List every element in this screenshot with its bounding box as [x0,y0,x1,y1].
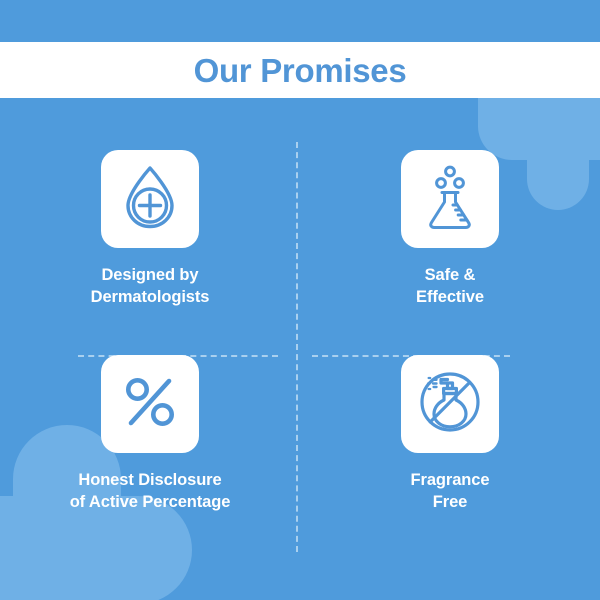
promise-item-fragrance-free: Fragrance Free [300,355,600,560]
page-title: Our Promises [194,54,407,87]
droplet-medical-cross-icon [119,164,181,235]
promise-label: Fragrance Free [411,470,490,514]
icon-card [101,355,199,453]
promise-item-honest-disclosure: Honest Disclosure of Active Percentage [0,355,300,560]
promises-poster: Our Promises Designed by Dermatologists [0,0,600,600]
promise-item-designed-by-dermatologists: Designed by Dermatologists [0,150,300,355]
icon-card [401,150,499,248]
lab-flask-icon [419,164,481,235]
promises-grid: Designed by Dermatologists [0,150,600,560]
icon-card [401,355,499,453]
percent-icon [120,372,180,437]
promise-label: Honest Disclosure of Active Percentage [70,470,231,514]
promise-label: Designed by Dermatologists [91,265,210,309]
no-fragrance-bottle-icon [417,369,483,440]
header-banner: Our Promises [0,42,600,98]
promise-label: Safe & Effective [416,265,484,309]
promise-item-safe-effective: Safe & Effective [300,150,600,355]
icon-card [101,150,199,248]
